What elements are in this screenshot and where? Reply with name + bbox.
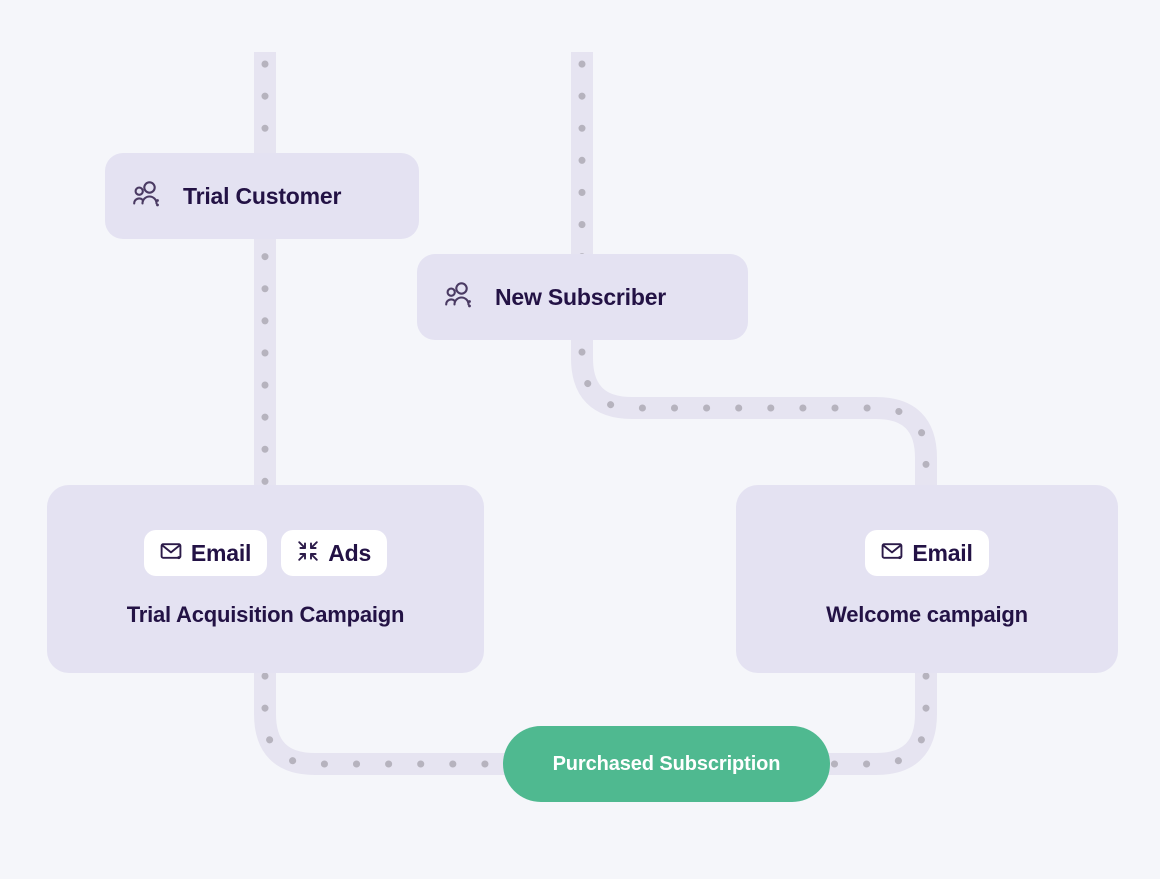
campaign-card-trial-acquisition[interactable]: Email xyxy=(47,485,484,673)
channel-chip-row: Email xyxy=(865,530,988,576)
node-label: New Subscriber xyxy=(495,284,666,311)
connector-subscriber-to-welcome xyxy=(582,340,926,492)
channel-chip-label: Ads xyxy=(328,540,371,567)
ads-collapse-icon xyxy=(297,540,319,567)
goal-label: Purchased Subscription xyxy=(553,753,781,776)
campaign-card-welcome[interactable]: Email Welcome campaign xyxy=(736,485,1118,673)
node-new-subscriber[interactable]: New Subscriber xyxy=(417,254,748,340)
campaign-title: Trial Acquisition Campaign xyxy=(127,602,405,628)
goal-node-purchased-subscription[interactable]: Purchased Subscription xyxy=(503,726,830,802)
envelope-icon xyxy=(160,540,182,567)
workflow-canvas: Trial Customer New Subscriber xyxy=(0,0,1160,879)
channel-chip-label: Email xyxy=(191,540,251,567)
node-trial-customer[interactable]: Trial Customer xyxy=(105,153,419,239)
envelope-icon xyxy=(881,540,903,567)
campaign-title: Welcome campaign xyxy=(826,602,1028,628)
connector-subscriber-to-welcome-dots xyxy=(582,352,926,488)
audience-icon xyxy=(443,280,473,315)
node-label: Trial Customer xyxy=(183,183,341,210)
audience-icon xyxy=(131,179,161,214)
channel-chip-row: Email xyxy=(144,530,387,576)
channel-chip-ads[interactable]: Ads xyxy=(281,530,387,576)
channel-chip-label: Email xyxy=(912,540,972,567)
channel-chip-email[interactable]: Email xyxy=(144,530,267,576)
channel-chip-email[interactable]: Email xyxy=(865,530,988,576)
